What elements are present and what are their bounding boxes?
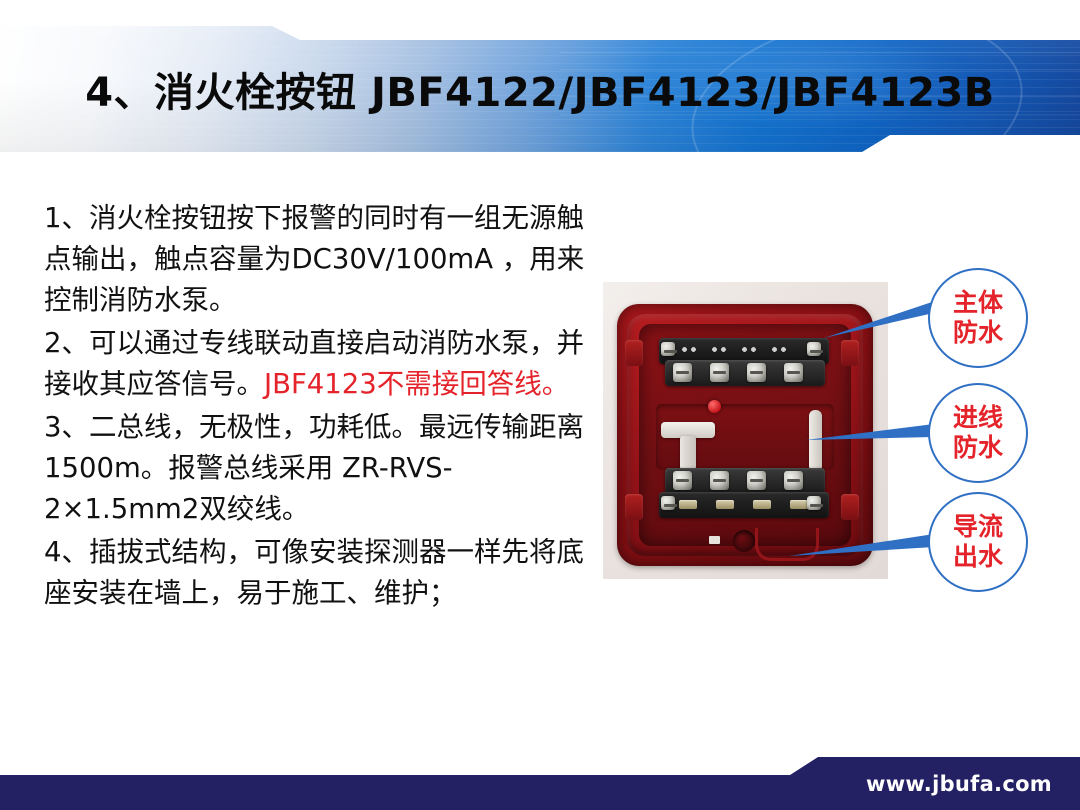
label-marker <box>709 536 720 544</box>
list-item: 3、二总线，无极性，功耗低。最远传输距离 1500m。报警总线采用 ZR-RVS… <box>44 407 604 530</box>
side-post <box>809 410 822 472</box>
terminal-contact <box>716 500 734 509</box>
page-title: 4、消火栓按钮 JBF4122/JBF4123/JBF4123B <box>0 60 1080 118</box>
header-banner: 4、消火栓按钮 JBF4122/JBF4123/JBF4123B <box>0 0 1080 175</box>
callout-line-1: 主体 <box>953 288 1003 318</box>
terminal-screw <box>673 471 692 490</box>
terminal-contact-dots <box>681 346 697 353</box>
terminal-screw <box>710 471 729 490</box>
paragraph-text: 4、插拔式结构，可像安装探测器一样先将底座安装在墙上，易于施工、维护； <box>44 536 584 609</box>
terminal-contact <box>790 500 808 509</box>
paragraph-text: 1、消火栓按钮按下报警的同时有一组无源触点输出，触点容量为DC30V/100mA… <box>44 202 584 316</box>
callout-line-2: 出水 <box>953 542 1003 572</box>
terminal-screw <box>710 363 729 382</box>
slide-root: 4、消火栓按钮 JBF4122/JBF4123/JBF4123B 1、消火栓按钮… <box>0 0 1080 810</box>
paragraph-text: 3、二总线，无极性，功耗低。最远传输距离 1500m。报警总线采用 ZR-RVS… <box>44 411 584 525</box>
case-corner-clip <box>625 340 643 366</box>
terminal-screw <box>747 471 766 490</box>
terminal-screw <box>747 363 766 382</box>
indicator-led <box>708 400 721 413</box>
paragraph-highlight: JBF4123不需接回答线。 <box>264 368 569 400</box>
callout-line-2: 防水 <box>953 318 1003 348</box>
case-corner-clip <box>841 494 859 520</box>
terminal-screw <box>784 471 803 490</box>
terminal-contact <box>753 500 771 509</box>
terminal-screw <box>807 496 821 510</box>
t-plug-stem <box>680 436 696 470</box>
mounting-hole <box>733 530 755 552</box>
terminal-screw <box>661 496 675 510</box>
list-item: 2、可以通过专线联动直接启动消防水泵，并接收其应答信号。JBF4123不需接回答… <box>44 323 604 405</box>
terminal-screw <box>673 363 692 382</box>
terminal-contact-dots <box>711 346 727 353</box>
footer-website-url[interactable]: www.jbufa.com <box>0 772 1052 796</box>
callout-line-1: 导流 <box>953 512 1003 542</box>
terminal-screw <box>807 342 821 356</box>
terminal-contact-dots <box>771 346 787 353</box>
callout-line-1: 进线 <box>953 403 1003 433</box>
terminal-contact <box>679 500 697 509</box>
t-shaped-plug <box>661 422 715 470</box>
callout-wire-inlet-waterproof[interactable]: 进线 防水 <box>928 383 1028 483</box>
callout-line-2: 防水 <box>953 433 1003 463</box>
case-corner-clip <box>841 340 859 366</box>
drain-notch <box>755 528 819 561</box>
terminal-screw <box>784 363 803 382</box>
terminal-contact-dots <box>741 346 757 353</box>
body-text-block: 1、消火栓按钮按下报警的同时有一组无源触点输出，触点容量为DC30V/100mA… <box>44 198 604 616</box>
terminal-screw <box>661 342 675 356</box>
list-item: 4、插拔式结构，可像安装探测器一样先将底座安装在墙上，易于施工、维护； <box>44 532 604 614</box>
callout-water-drainage[interactable]: 导流 出水 <box>928 492 1028 592</box>
callout-main-body-waterproof[interactable]: 主体 防水 <box>928 268 1028 368</box>
case-corner-clip <box>625 494 643 520</box>
list-item: 1、消火栓按钮按下报警的同时有一组无源触点输出，触点容量为DC30V/100mA… <box>44 198 604 321</box>
product-photo <box>603 282 888 579</box>
